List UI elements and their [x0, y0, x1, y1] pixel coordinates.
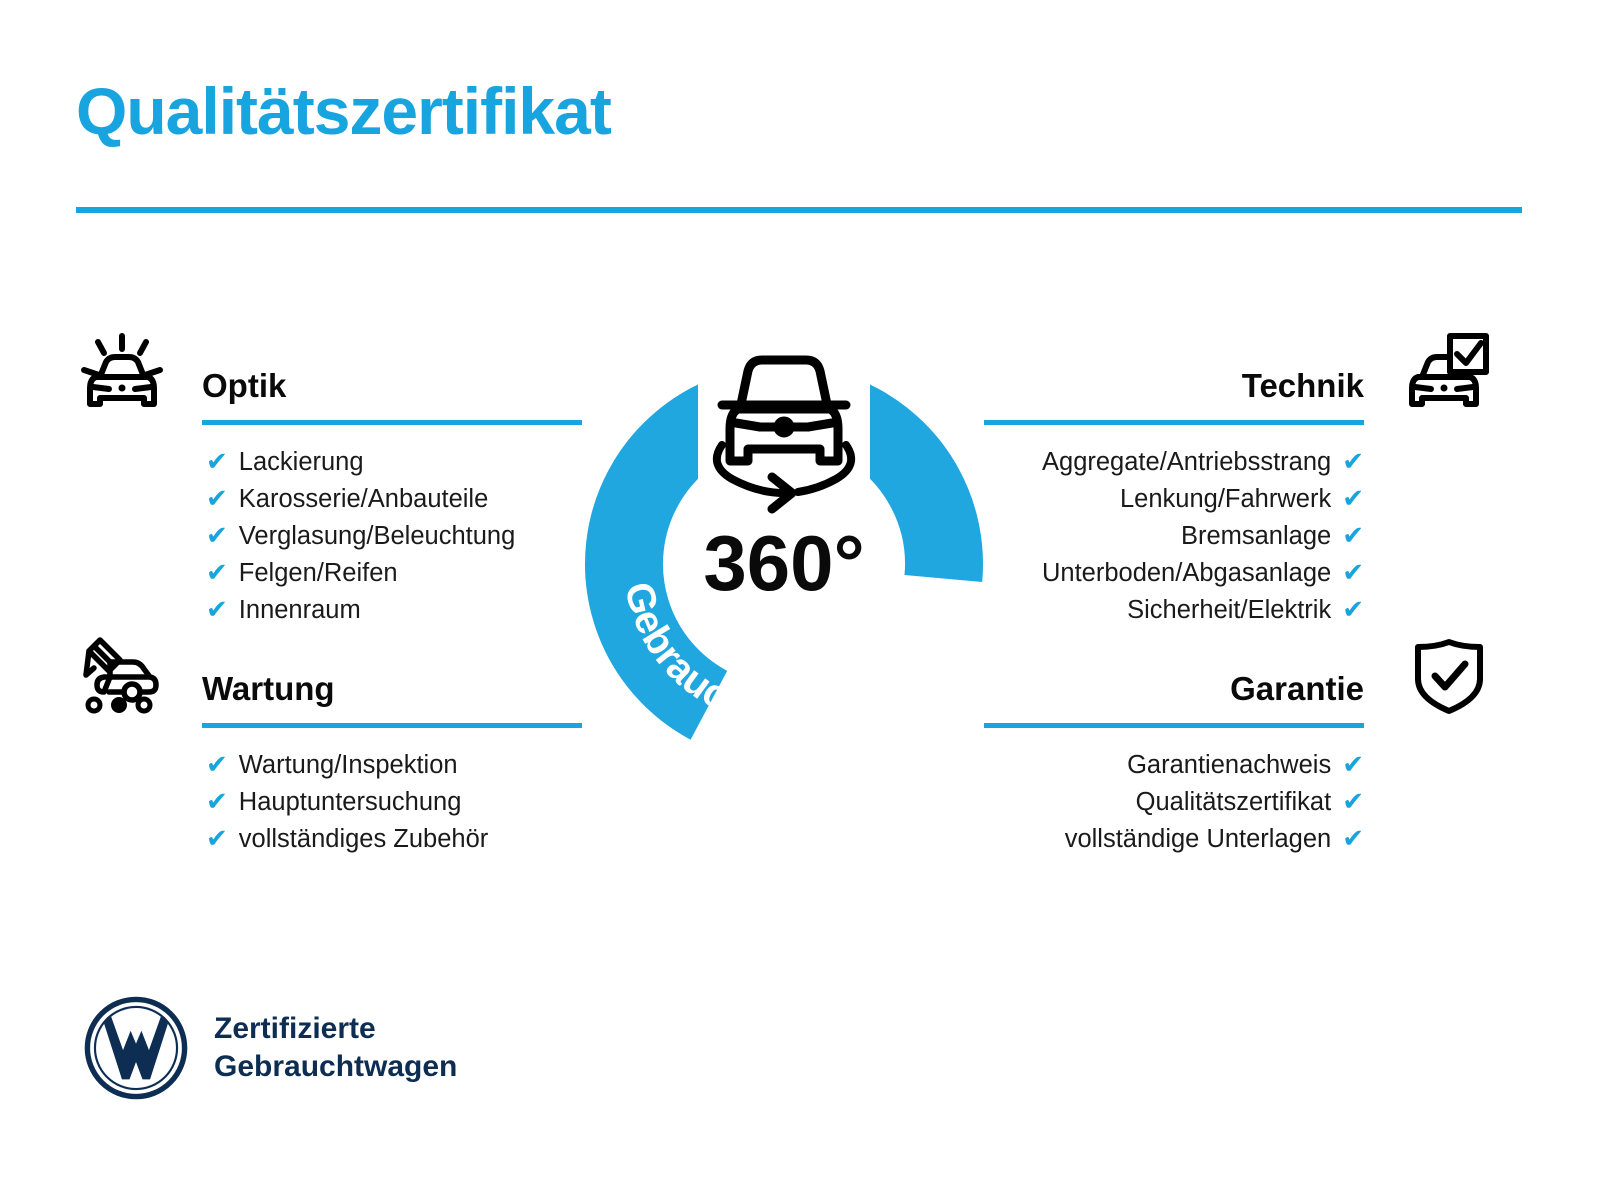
list-item-label: Aggregate/Antriebsstrang — [1042, 444, 1331, 481]
page-title: Qualitätszertifikat — [76, 78, 611, 144]
car-service-pencil-icon — [76, 633, 188, 719]
section-technik: Technik Aggregate/Antriebsstrang ✔ Lenku… — [984, 330, 1490, 416]
check-icon: ✔ — [1342, 448, 1364, 474]
car-front-shine-icon — [76, 330, 188, 416]
section-technik-divider — [984, 420, 1364, 425]
check-icon: ✔ — [206, 485, 228, 511]
section-optik: Optik ✔ Lackierung ✔ Karosserie/Anbautei… — [76, 330, 582, 416]
list-item: Lenkung/Fahrwerk ✔ — [984, 481, 1490, 518]
360-check-badge: Gebrauchtwagen-Check 360° — [568, 312, 1000, 764]
list-item-label: Hauptuntersuchung — [239, 784, 462, 821]
check-icon: ✔ — [206, 448, 228, 474]
list-item-label: Felgen/Reifen — [239, 555, 398, 592]
section-optik-divider — [202, 420, 582, 425]
section-wartung-divider — [202, 723, 582, 728]
list-item: ✔ Karosserie/Anbauteile — [76, 481, 582, 518]
list-item-label: vollständiges Zubehör — [239, 821, 488, 858]
list-item: ✔ Lackierung — [76, 444, 582, 481]
check-icon: ✔ — [1342, 522, 1364, 548]
badge-center-label: 360° — [703, 519, 864, 607]
section-wartung-header: Wartung — [76, 633, 582, 719]
car-front-checkbox-icon — [1378, 330, 1490, 416]
section-garantie-list: Garantienachweis ✔ Qualitätszertifikat ✔… — [984, 747, 1490, 858]
list-item: Qualitätszertifikat ✔ — [984, 784, 1490, 821]
volkswagen-logo — [82, 994, 190, 1102]
list-item-label: Innenraum — [239, 592, 361, 629]
footer-line-2: Gebrauchtwagen — [214, 1048, 457, 1086]
list-item: Aggregate/Antriebsstrang ✔ — [984, 444, 1490, 481]
check-icon: ✔ — [1342, 485, 1364, 511]
section-technik-title: Technik — [1242, 369, 1364, 402]
list-item-label: Wartung/Inspektion — [239, 747, 458, 784]
list-item: ✔ Innenraum — [76, 592, 582, 629]
check-icon: ✔ — [1342, 751, 1364, 777]
section-technik-header: Technik — [984, 330, 1490, 416]
check-icon: ✔ — [1342, 825, 1364, 851]
section-wartung-list: ✔ Wartung/Inspektion ✔ Hauptuntersuchung… — [76, 747, 582, 858]
car-rotation-360-icon — [698, 345, 870, 509]
list-item-label: Karosserie/Anbauteile — [239, 481, 488, 518]
section-garantie-divider — [984, 723, 1364, 728]
list-item-label: Lenkung/Fahrwerk — [1120, 481, 1331, 518]
list-item: Sicherheit/Elektrik ✔ — [984, 592, 1490, 629]
check-icon: ✔ — [206, 825, 228, 851]
section-optik-title: Optik — [202, 369, 286, 402]
list-item: ✔ Hauptuntersuchung — [76, 784, 582, 821]
check-icon: ✔ — [206, 596, 228, 622]
section-optik-list: ✔ Lackierung ✔ Karosserie/Anbauteile ✔ V… — [76, 444, 582, 629]
section-wartung: Wartung ✔ Wartung/Inspektion ✔ Hauptunte… — [76, 633, 582, 719]
list-item: ✔ Verglasung/Beleuchtung — [76, 518, 582, 555]
list-item-label: Sicherheit/Elektrik — [1127, 592, 1331, 629]
section-technik-list: Aggregate/Antriebsstrang ✔ Lenkung/Fahrw… — [984, 444, 1490, 629]
check-icon: ✔ — [206, 788, 228, 814]
list-item: Unterboden/Abgasanlage ✔ — [984, 555, 1490, 592]
section-wartung-title: Wartung — [202, 672, 335, 705]
list-item: ✔ Wartung/Inspektion — [76, 747, 582, 784]
check-icon: ✔ — [206, 559, 228, 585]
list-item: ✔ vollständiges Zubehör — [76, 821, 582, 858]
section-garantie: Garantie Garantienachweis ✔ Qualitätszer… — [984, 633, 1490, 719]
certificate-page: Qualitätszertifikat — [0, 0, 1600, 1200]
shield-check-icon — [1378, 633, 1490, 719]
list-item-label: Bremsanlage — [1181, 518, 1331, 555]
list-item-label: Lackierung — [239, 444, 364, 481]
list-item-label: Verglasung/Beleuchtung — [239, 518, 515, 555]
list-item: Garantienachweis ✔ — [984, 747, 1490, 784]
check-icon: ✔ — [206, 751, 228, 777]
check-icon: ✔ — [206, 522, 228, 548]
list-item: Bremsanlage ✔ — [984, 518, 1490, 555]
check-icon: ✔ — [1342, 596, 1364, 622]
section-garantie-header: Garantie — [984, 633, 1490, 719]
list-item: vollständige Unterlagen ✔ — [984, 821, 1490, 858]
footer-line-1: Zertifizierte — [214, 1010, 457, 1048]
list-item-label: vollständige Unterlagen — [1065, 821, 1332, 858]
footer-brand: Zertifizierte Gebrauchtwagen — [82, 994, 457, 1102]
list-item-label: Qualitätszertifikat — [1136, 784, 1332, 821]
list-item-label: Unterboden/Abgasanlage — [1042, 555, 1331, 592]
check-icon: ✔ — [1342, 788, 1364, 814]
check-icon: ✔ — [1342, 559, 1364, 585]
list-item-label: Garantienachweis — [1127, 747, 1331, 784]
section-garantie-title: Garantie — [1230, 672, 1364, 705]
title-divider — [76, 207, 1522, 213]
section-optik-header: Optik — [76, 330, 582, 416]
footer-text: Zertifizierte Gebrauchtwagen — [214, 1010, 457, 1087]
list-item: ✔ Felgen/Reifen — [76, 555, 582, 592]
